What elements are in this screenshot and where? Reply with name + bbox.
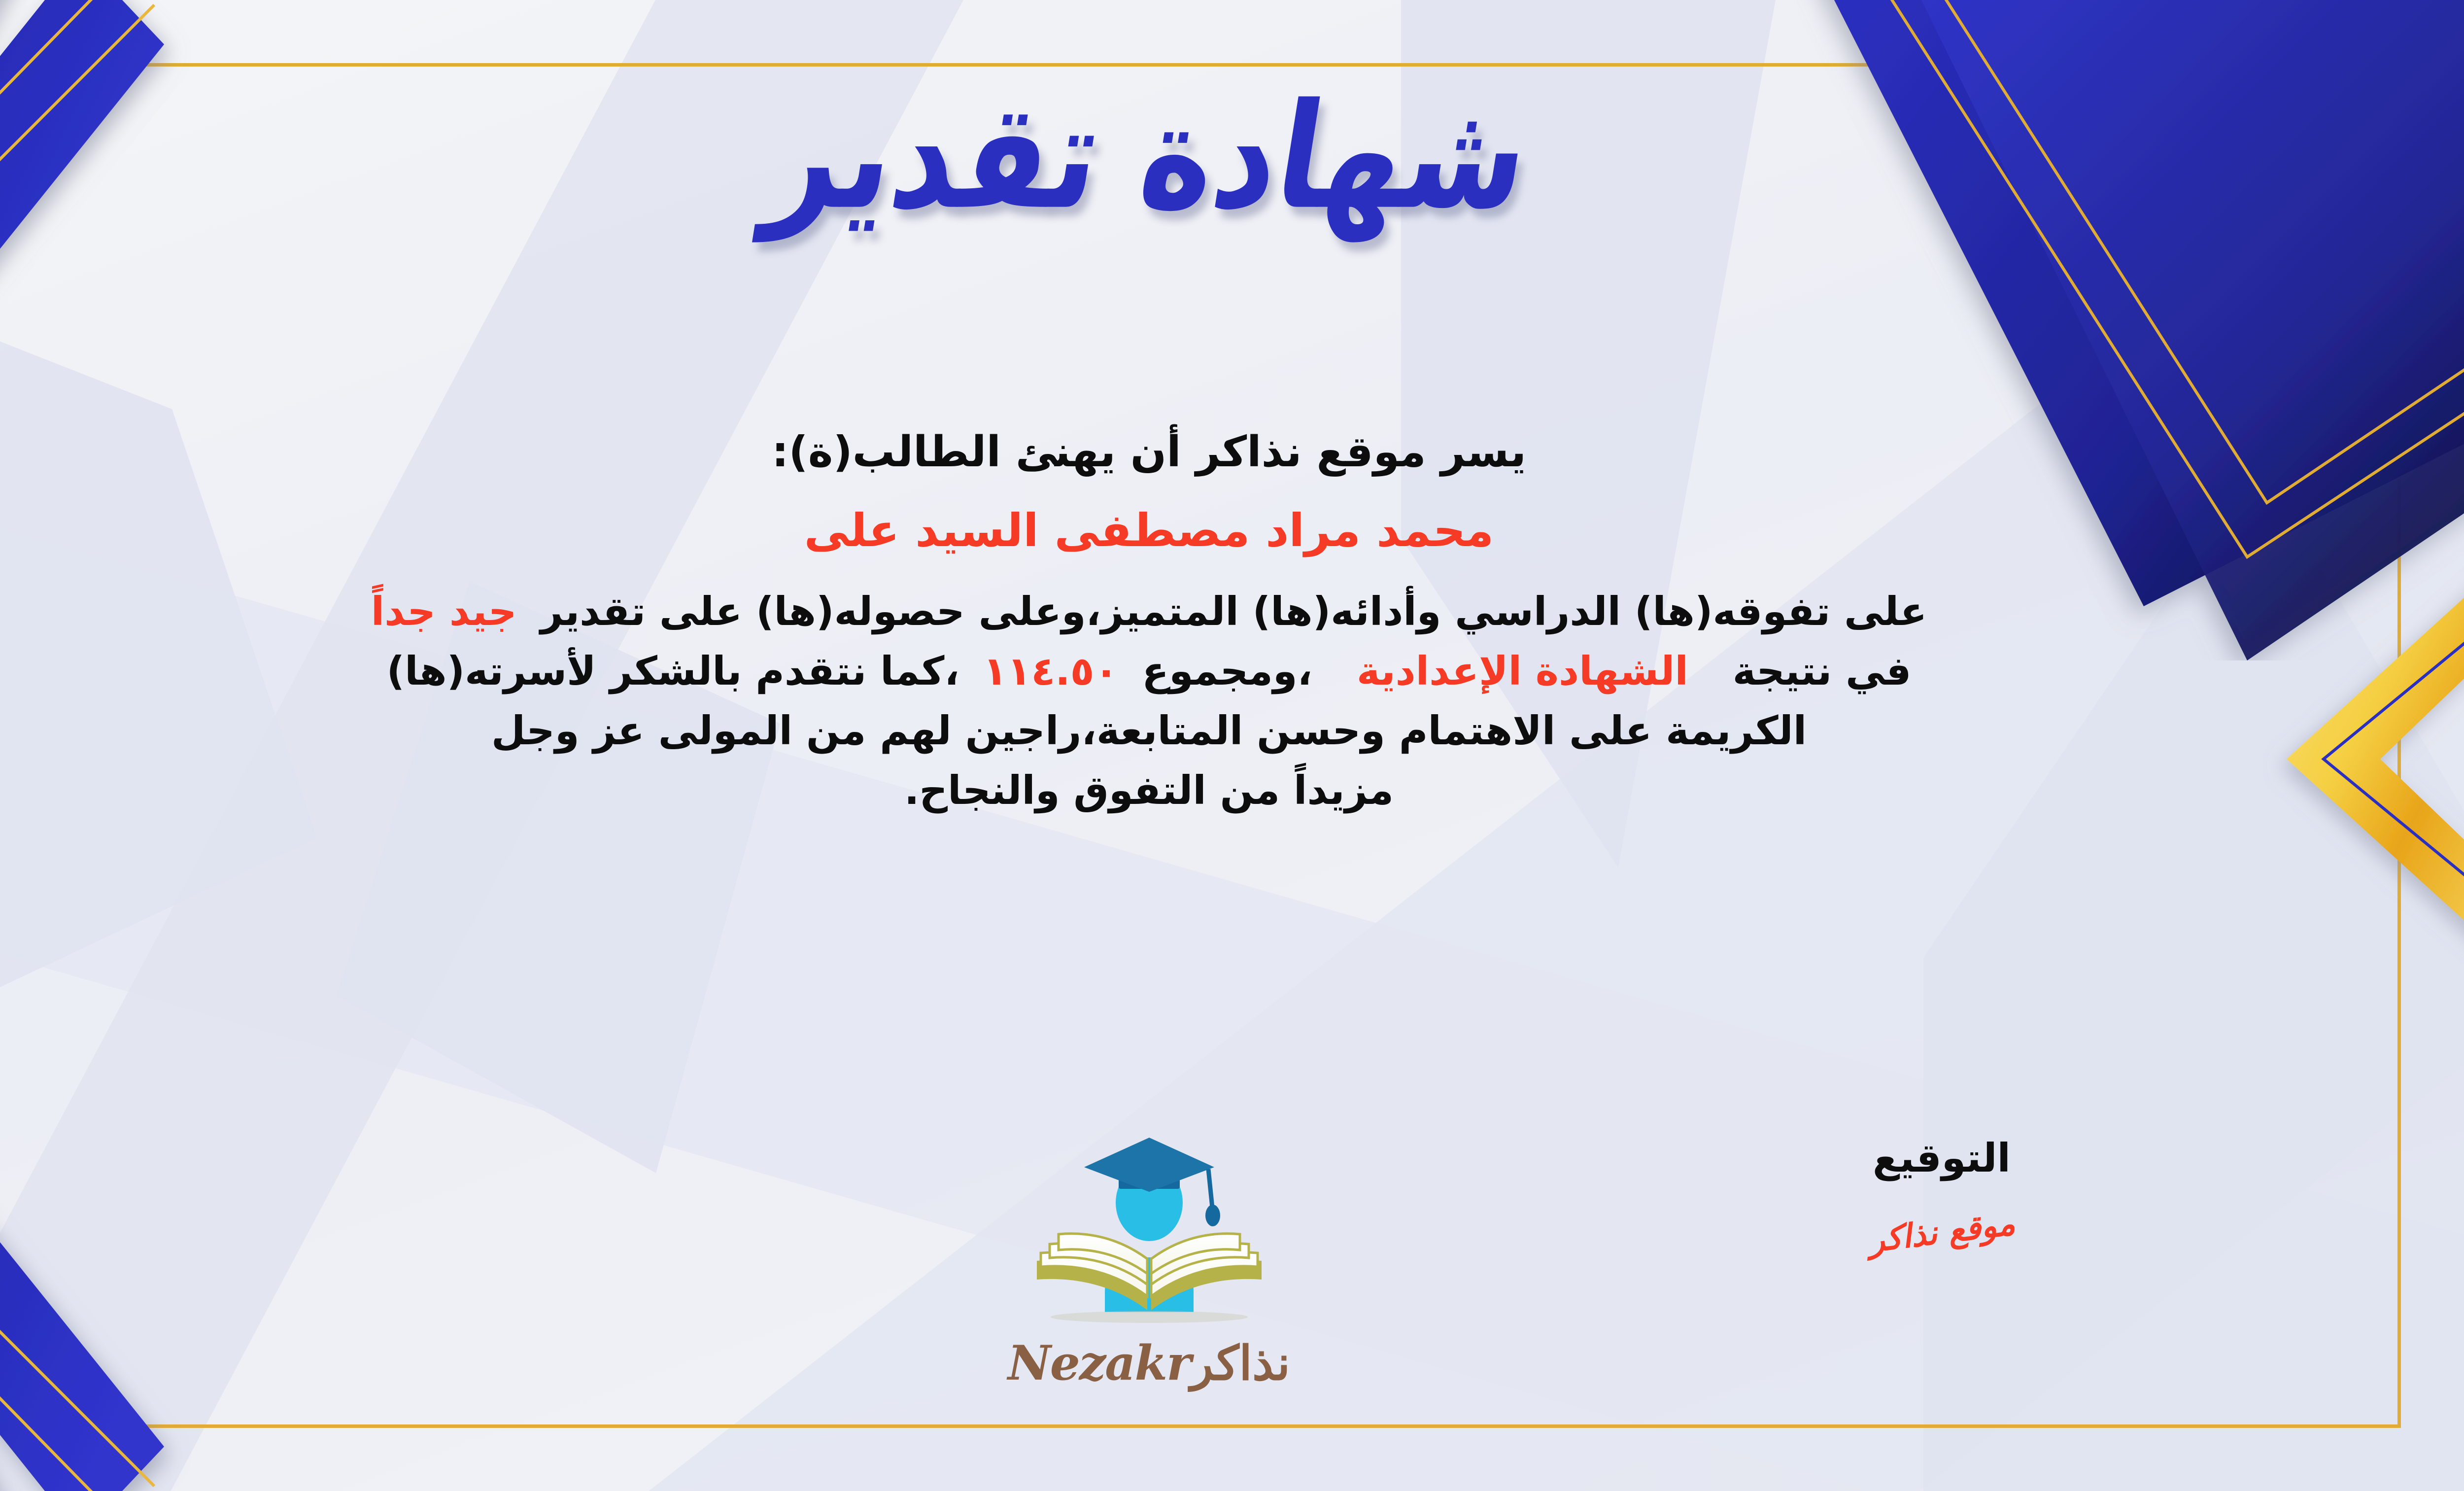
achievement-line: على تفوقه(ها) الدراسي وأدائه(ها) المتميز… (0, 585, 2365, 638)
page-title: شهادة تقدير (757, 70, 1540, 242)
result-prefix: في نتيجة (1733, 648, 1912, 694)
grade-value: جيد جداً (371, 589, 517, 634)
family-thanks-line: الكريمة على الاهتمام وحسن المتابعة،راجين… (0, 704, 2365, 757)
result-line: في نتيجةالشهادة الإعدادية،ومجموع١١٤.٥٠،ك… (0, 645, 2365, 697)
achievement-text: على تفوقه(ها) الدراسي وأدائه(ها) المتميز… (540, 589, 1927, 634)
brand-name-arabic: نذاكر (1191, 1335, 1290, 1391)
exam-name: الشهادة الإعدادية (1357, 648, 1688, 694)
closing-line: مزيداً من التفوق والنجاح. (0, 764, 2365, 817)
brand-logo-block: نذاكرNezakr (0, 1129, 2464, 1387)
brand-name-latin: Nezakr (1008, 1335, 1191, 1391)
brand-name: نذاكرNezakr (0, 1340, 2464, 1387)
total-prefix: ،ومجموع (1142, 648, 1312, 694)
thanks-prefix: ،كما نتقدم بالشكر لأسرته(ها) (387, 648, 959, 694)
certificate-page: شهادة تقدير يسر موقع نذاكر أن يهنئ الطال… (0, 0, 2464, 1491)
intro-line: يسر موقع نذاكر أن يهنئ الطالب(ة): (0, 424, 2365, 481)
graduate-book-logo-icon (992, 1129, 1307, 1338)
certificate-body: يسر موقع نذاكر أن يهنئ الطالب(ة): محمد م… (0, 424, 2365, 824)
student-name: محمد مراد مصطفى السيد على (0, 500, 2365, 561)
certificate-title-block: شهادة تقدير (0, 84, 2464, 229)
total-score: ١١٤.٥٠ (983, 648, 1119, 694)
